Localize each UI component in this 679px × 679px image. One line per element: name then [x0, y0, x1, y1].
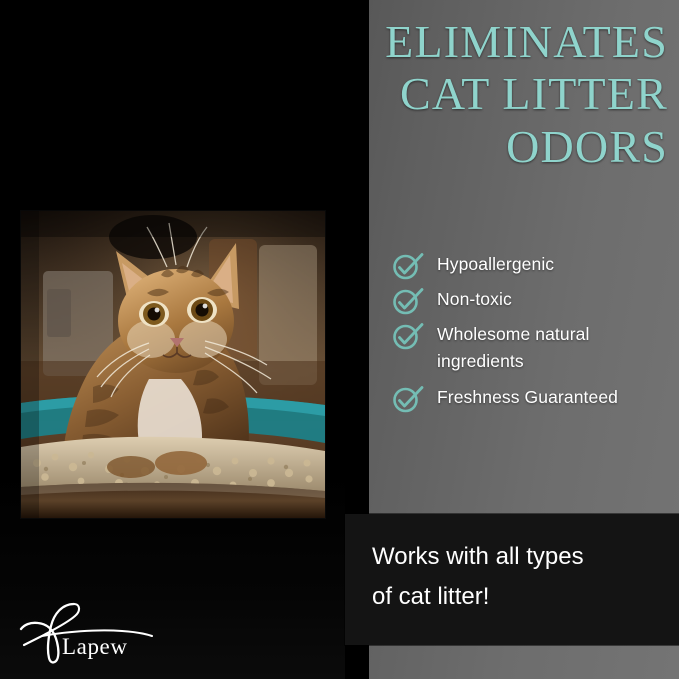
callout-text: Works with all types of cat litter! [372, 537, 662, 616]
check-circle-icon [392, 384, 424, 414]
callout-line-1: Works with all types [372, 537, 662, 577]
callout-line-2: of cat litter! [372, 577, 662, 617]
cat-in-litter-box-photo [21, 211, 325, 518]
photo-artwork [21, 211, 325, 518]
benefit-label: Non-toxic [437, 286, 512, 313]
check-circle-icon [392, 286, 424, 316]
check-circle-icon [392, 251, 424, 281]
headline: ELIMINATES CAT LITTER ODORS [238, 16, 668, 173]
callout-panel: Works with all types of cat litter! [345, 514, 679, 645]
benefit-item: Wholesome natural ingredients [392, 321, 677, 379]
benefit-label: Wholesome natural ingredients [437, 321, 677, 375]
headline-line-2: CAT LITTER [238, 68, 668, 120]
benefit-label: Hypoallergenic [437, 251, 554, 278]
headline-line-1: ELIMINATES [238, 16, 668, 68]
product-infographic: ELIMINATES CAT LITTER ODORS [0, 0, 679, 679]
brand-name: Lapew [62, 634, 128, 660]
benefit-item: Hypoallergenic [392, 251, 677, 281]
check-circle-icon [392, 321, 424, 351]
benefit-label: Freshness Guaranteed [437, 384, 618, 411]
benefit-item: Freshness Guaranteed [392, 384, 677, 414]
brand-logo: Lapew [18, 598, 178, 664]
benefit-item: Non-toxic [392, 286, 677, 316]
benefits-list: Hypoallergenic Non-toxic Wholesome natur… [392, 251, 677, 419]
headline-line-3: ODORS [238, 121, 668, 173]
